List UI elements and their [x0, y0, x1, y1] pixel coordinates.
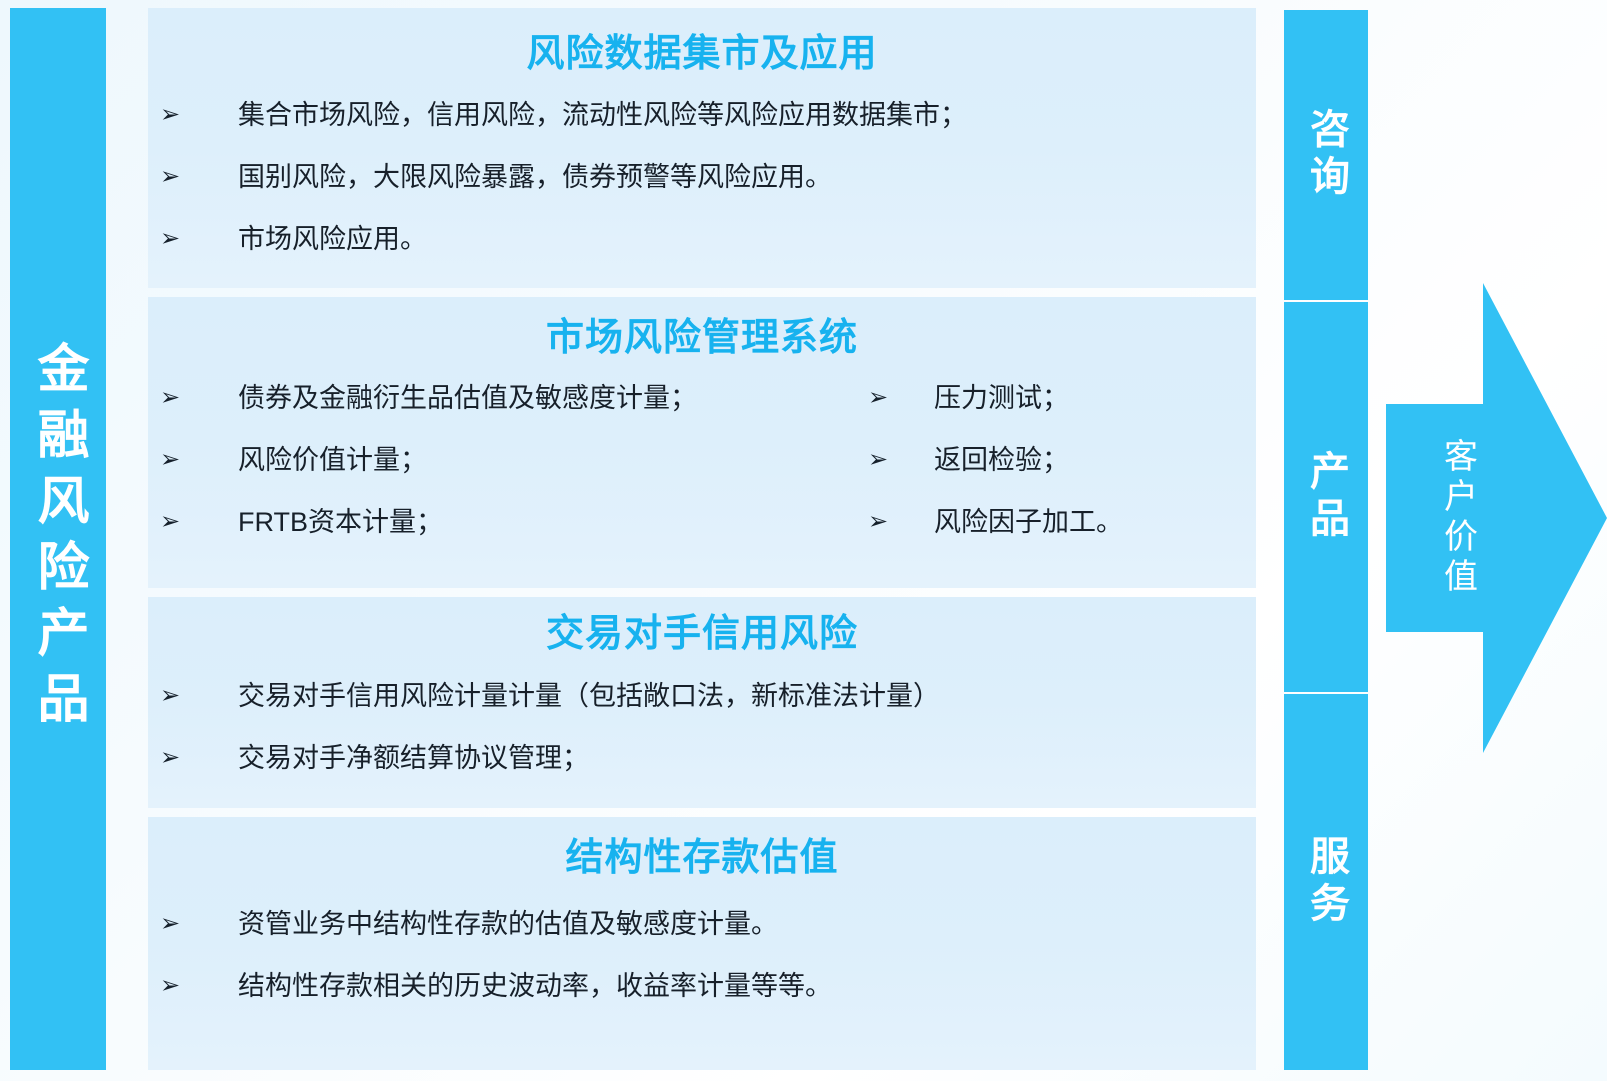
customer-value-arrow: 客户价值 [1386, 283, 1607, 753]
list-item: ➢ 资管业务中结构性存款的估值及敏感度计量。 [148, 911, 1256, 938]
left-category-label: 金融风险产品 [32, 341, 84, 737]
arrow-bullet-icon: ➢ [148, 447, 238, 471]
list-item: ➢ 结构性存款相关的历史波动率，收益率计量等等。 [148, 973, 1256, 1000]
list-item-text: 市场风险应用。 [238, 226, 427, 253]
content-panel: 风险数据集市及应用 ➢ 集合市场风险，信用风险，流动性风险等风险应用数据集市； … [148, 8, 1256, 1070]
arrow-label-wrap: 客户价值 [1386, 283, 1529, 753]
list-item-text: 债券及金融衍生品估值及敏感度计量； [238, 385, 697, 412]
arrow-bullet-icon: ➢ [148, 745, 238, 769]
arrow-bullet-icon: ➢ [838, 385, 934, 409]
list-item: ➢ 风险价值计量； [148, 447, 838, 474]
list-item-text: 风险因子加工。 [934, 509, 1123, 536]
list-item-text: 风险价值计量； [238, 447, 427, 474]
arrow-bullet-icon: ➢ [148, 683, 238, 707]
section-counterparty-credit-risk: 交易对手信用风险 ➢ 交易对手信用风险计量计量（包括敞口法，新标准法计量） ➢ … [148, 597, 1256, 808]
section-market-risk-system: 市场风险管理系统 ➢ 债券及金融衍生品估值及敏感度计量； ➢ 风险价值计量； ➢… [148, 297, 1256, 588]
list-item-text: 交易对手信用风险计量计量（包括敞口法，新标准法计量） [238, 683, 940, 710]
arrow-bullet-icon: ➢ [148, 509, 238, 533]
section-title: 结构性存款估值 [148, 817, 1256, 877]
arrow-bullet-icon: ➢ [838, 447, 934, 471]
left-category-bar: 金融风险产品 [10, 8, 106, 1070]
arrow-bullet-icon: ➢ [148, 911, 238, 935]
right-label-product: 产品 [1284, 302, 1368, 692]
bullet-list: ➢ 集合市场风险，信用风险，流动性风险等风险应用数据集市； ➢ 国别风险，大限风… [148, 102, 1256, 253]
list-item-text: 资管业务中结构性存款的估值及敏感度计量。 [238, 911, 778, 938]
list-item: ➢ 债券及金融衍生品估值及敏感度计量； [148, 385, 838, 412]
arrow-bullet-icon: ➢ [148, 385, 238, 409]
arrow-bullet-icon: ➢ [148, 102, 238, 126]
bullet-list: ➢ 交易对手信用风险计量计量（包括敞口法，新标准法计量） ➢ 交易对手净额结算协… [148, 683, 1256, 772]
bullet-column-left: ➢ 债券及金融衍生品估值及敏感度计量； ➢ 风险价值计量； ➢ FRTB资本计量… [148, 385, 838, 571]
section-title: 交易对手信用风险 [148, 597, 1256, 653]
list-item-text: 压力测试； [934, 385, 1069, 412]
right-label-text: 服务 [1306, 835, 1346, 929]
right-label-text: 产品 [1306, 450, 1346, 544]
slide-canvas: 金融风险产品 风险数据集市及应用 ➢ 集合市场风险，信用风险，流动性风险等风险应… [0, 0, 1607, 1081]
list-item: ➢ 国别风险，大限风险暴露，债券预警等风险应用。 [148, 164, 1256, 191]
arrow-bullet-icon: ➢ [838, 509, 934, 533]
arrow-bullet-icon: ➢ [148, 226, 238, 250]
arrow-bullet-icon: ➢ [148, 164, 238, 188]
right-label-service: 服务 [1284, 694, 1368, 1070]
list-item-text: 国别风险，大限风险暴露，债券预警等风险应用。 [238, 164, 832, 191]
bullet-list: ➢ 资管业务中结构性存款的估值及敏感度计量。 ➢ 结构性存款相关的历史波动率，收… [148, 911, 1256, 1000]
list-item-text: 结构性存款相关的历史波动率，收益率计量等等。 [238, 973, 832, 1000]
list-item-text: 集合市场风险，信用风险，流动性风险等风险应用数据集市； [238, 102, 967, 129]
arrow-bullet-icon: ➢ [148, 973, 238, 997]
list-item: ➢ 返回检验； [838, 447, 1256, 474]
arrow-label-text: 客户价值 [1441, 438, 1475, 598]
section-structured-deposit-valuation: 结构性存款估值 ➢ 资管业务中结构性存款的估值及敏感度计量。 ➢ 结构性存款相关… [148, 817, 1256, 1070]
list-item: ➢ 压力测试； [838, 385, 1256, 412]
section-risk-data-mart: 风险数据集市及应用 ➢ 集合市场风险，信用风险，流动性风险等风险应用数据集市； … [148, 8, 1256, 288]
list-item: ➢ FRTB资本计量； [148, 509, 838, 536]
list-item-text: FRTB资本计量； [238, 509, 443, 536]
list-item: ➢ 市场风险应用。 [148, 226, 1256, 253]
list-item-text: 返回检验； [934, 447, 1069, 474]
list-item: ➢ 集合市场风险，信用风险，流动性风险等风险应用数据集市； [148, 102, 1256, 129]
list-item: ➢ 风险因子加工。 [838, 509, 1256, 536]
section-title: 市场风险管理系统 [148, 297, 1256, 357]
right-label-consulting: 咨询 [1284, 10, 1368, 300]
list-item-text: 交易对手净额结算协议管理； [238, 745, 589, 772]
section-title: 风险数据集市及应用 [148, 8, 1256, 73]
list-item: ➢ 交易对手信用风险计量计量（包括敞口法，新标准法计量） [148, 683, 1256, 710]
bullet-list: ➢ 债券及金融衍生品估值及敏感度计量； ➢ 风险价值计量； ➢ FRTB资本计量… [148, 385, 1256, 571]
list-item: ➢ 交易对手净额结算协议管理； [148, 745, 1256, 772]
right-label-text: 咨询 [1306, 108, 1346, 202]
bullet-column-right: ➢ 压力测试； ➢ 返回检验； ➢ 风险因子加工。 [838, 385, 1256, 571]
